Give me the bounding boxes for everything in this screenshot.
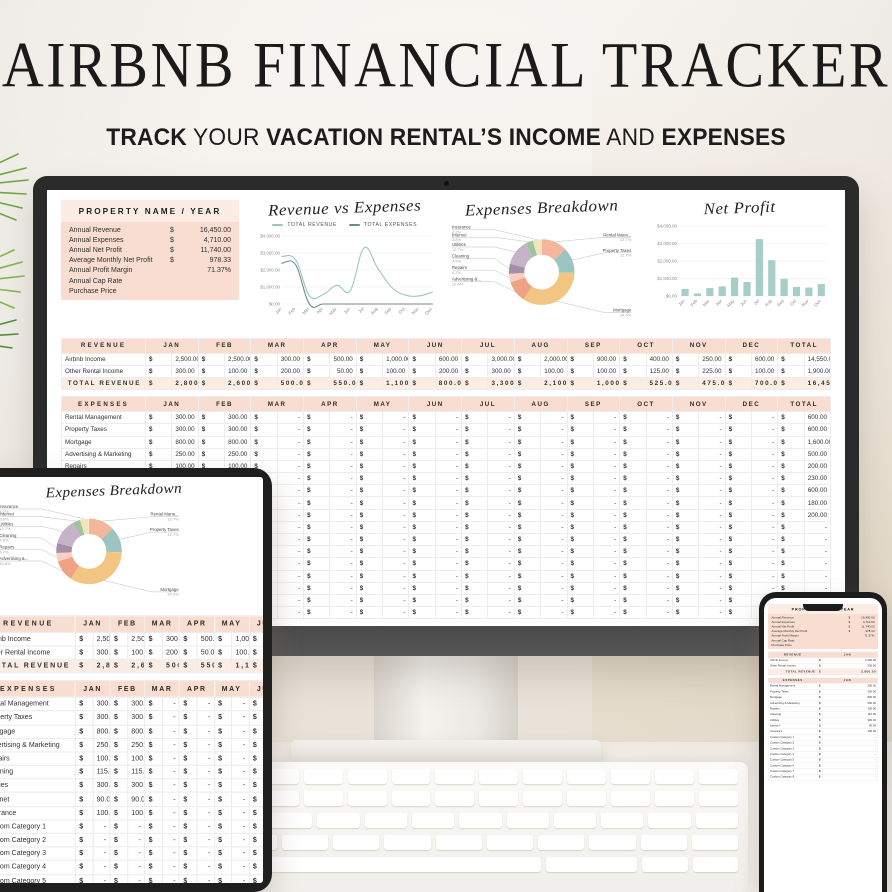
table-row[interactable]: Rental Management$300.00$300.00$-$-$-$-$… bbox=[0, 697, 263, 711]
cell-value[interactable]: - bbox=[162, 874, 179, 883]
cell-value[interactable]: - bbox=[646, 607, 672, 619]
cell-value[interactable]: - bbox=[699, 546, 725, 558]
table-row[interactable]: Mortgage$800.00$800.00$-$-$-$-$-$-$-$-$-… bbox=[0, 725, 263, 739]
cell-value[interactable]: - bbox=[699, 485, 725, 497]
cell-value[interactable]: - bbox=[541, 558, 567, 570]
cell-value[interactable]: - bbox=[488, 582, 514, 594]
cell-value[interactable]: - bbox=[383, 473, 409, 485]
cell-value[interactable]: - bbox=[277, 497, 303, 509]
cell-value[interactable]: - bbox=[541, 594, 567, 606]
cell-value[interactable]: - bbox=[162, 847, 179, 861]
cell-value[interactable]: - bbox=[541, 607, 567, 619]
table-row[interactable]: Mortgage$800.00$800.00$-$-$-$-$-$-$-$-$-… bbox=[62, 436, 831, 448]
cell-value[interactable]: - bbox=[646, 546, 672, 558]
cell-value[interactable]: - bbox=[541, 546, 567, 558]
cell-value[interactable]: - bbox=[330, 424, 356, 436]
cell-value[interactable]: - bbox=[541, 534, 567, 546]
cell-value[interactable]: - bbox=[383, 546, 409, 558]
cell-value[interactable]: - bbox=[232, 725, 249, 739]
cell-value[interactable]: - bbox=[646, 509, 672, 521]
cell-value[interactable]: - bbox=[127, 874, 144, 883]
cell-value[interactable]: - bbox=[751, 521, 777, 533]
cell-value[interactable]: - bbox=[435, 594, 461, 606]
cell-value[interactable]: - bbox=[699, 594, 725, 606]
cell-value[interactable]: - bbox=[435, 570, 461, 582]
cell-value[interactable]: - bbox=[232, 806, 249, 820]
cell-value[interactable]: - bbox=[541, 412, 567, 424]
cell-value[interactable]: - bbox=[435, 473, 461, 485]
cell-value[interactable]: 300.00 bbox=[93, 779, 110, 793]
cell-value[interactable]: 500.00 bbox=[197, 632, 214, 646]
cell-value[interactable]: 300.00 bbox=[488, 365, 514, 377]
cell-value[interactable]: 2,500.00 bbox=[93, 632, 110, 646]
cell-value[interactable]: - bbox=[488, 607, 514, 619]
table-row[interactable]: Airbnb Income$2,500.00$2,500.00$300.00$5… bbox=[62, 353, 831, 365]
cell-value[interactable]: - bbox=[330, 497, 356, 509]
cell-value[interactable]: 100.00 bbox=[127, 806, 144, 820]
cell-value[interactable]: - bbox=[488, 594, 514, 606]
cell-value[interactable]: 50.00 bbox=[330, 365, 356, 377]
table-row[interactable]: Cleaning$115.00$115.00$-$-$-$-$-$-$-$-$-… bbox=[0, 765, 263, 779]
cell-value[interactable]: - bbox=[383, 509, 409, 521]
cell-value[interactable]: - bbox=[488, 546, 514, 558]
cell-value[interactable]: - bbox=[232, 793, 249, 807]
cell-value[interactable]: - bbox=[383, 485, 409, 497]
cell-value[interactable]: - bbox=[593, 521, 619, 533]
cell-value[interactable]: - bbox=[277, 546, 303, 558]
cell-value[interactable]: - bbox=[488, 509, 514, 521]
cell-value[interactable]: - bbox=[330, 582, 356, 594]
cell-value[interactable]: - bbox=[541, 485, 567, 497]
cell-value[interactable]: - bbox=[435, 424, 461, 436]
cell-value[interactable]: - bbox=[162, 711, 179, 725]
cell-value[interactable]: 600.00 bbox=[435, 353, 461, 365]
cell-value[interactable]: - bbox=[593, 546, 619, 558]
cell-value[interactable]: - bbox=[93, 833, 110, 847]
cell-value[interactable]: - bbox=[383, 497, 409, 509]
cell-value[interactable]: - bbox=[435, 558, 461, 570]
cell-value[interactable]: - bbox=[699, 534, 725, 546]
table-row[interactable]: Airbnb Income$2,500.00$2,500.00$300.00$5… bbox=[0, 632, 263, 646]
cell-value[interactable]: - bbox=[488, 485, 514, 497]
cell-value[interactable]: - bbox=[383, 570, 409, 582]
cell-value[interactable]: - bbox=[197, 752, 214, 766]
cell-value[interactable]: - bbox=[646, 436, 672, 448]
cell-value[interactable]: 1,000.00 bbox=[232, 632, 249, 646]
cell-value[interactable]: 300.00 bbox=[93, 646, 110, 660]
cell-value[interactable]: - bbox=[751, 485, 777, 497]
cell-value[interactable]: - bbox=[277, 534, 303, 546]
cell-value[interactable]: 100.00 bbox=[127, 752, 144, 766]
cell-value[interactable]: - bbox=[162, 833, 179, 847]
cell-value[interactable]: - bbox=[751, 509, 777, 521]
cell-value[interactable]: - bbox=[751, 546, 777, 558]
cell-value[interactable]: 90.00 bbox=[127, 793, 144, 807]
cell-value[interactable]: 225.00 bbox=[699, 365, 725, 377]
cell-value[interactable]: - bbox=[162, 725, 179, 739]
cell-value[interactable]: - bbox=[488, 534, 514, 546]
cell-value[interactable]: - bbox=[277, 509, 303, 521]
cell-value[interactable]: 900.00 bbox=[593, 353, 619, 365]
cell-value[interactable]: 100.00 bbox=[232, 646, 249, 660]
cell-value[interactable]: 250.00 bbox=[699, 353, 725, 365]
cell-value[interactable]: - bbox=[541, 521, 567, 533]
table-row[interactable]: Custom Category 4$-$-$-$-$-$-$-$-$-$-$-$… bbox=[0, 861, 263, 875]
cell-value[interactable]: - bbox=[593, 497, 619, 509]
cell-value[interactable]: - bbox=[162, 738, 179, 752]
cell-value[interactable]: - bbox=[330, 473, 356, 485]
cell-value[interactable]: - bbox=[383, 607, 409, 619]
cell-value[interactable]: 300.00 bbox=[162, 632, 179, 646]
cell-value[interactable]: 200.00 bbox=[277, 365, 303, 377]
cell-value[interactable]: - bbox=[197, 833, 214, 847]
cell-value[interactable]: - bbox=[541, 436, 567, 448]
cell-value[interactable]: - bbox=[751, 412, 777, 424]
cell-value[interactable]: - bbox=[646, 412, 672, 424]
cell-value[interactable]: - bbox=[593, 534, 619, 546]
cell-value[interactable]: 100.00 bbox=[93, 752, 110, 766]
table-row[interactable]: Custom Category 5$-$-$-$-$-$-$-$-$-$-$-$… bbox=[0, 874, 263, 883]
cell-value[interactable]: - bbox=[383, 534, 409, 546]
cell-value[interactable]: 300.00 bbox=[172, 424, 198, 436]
cell-value[interactable]: - bbox=[488, 497, 514, 509]
cell-value[interactable]: - bbox=[277, 412, 303, 424]
cell-value[interactable]: - bbox=[646, 448, 672, 460]
cell-value[interactable]: - bbox=[488, 448, 514, 460]
cell-value[interactable]: - bbox=[383, 448, 409, 460]
cell-value[interactable]: - bbox=[232, 711, 249, 725]
cell-value[interactable]: 300.00 bbox=[127, 711, 144, 725]
cell-value[interactable]: - bbox=[593, 460, 619, 472]
cell-value[interactable]: - bbox=[162, 793, 179, 807]
cell-value[interactable]: 90.00 bbox=[93, 793, 110, 807]
cell-value[interactable]: 1,000.00 bbox=[383, 353, 409, 365]
cell-value[interactable]: - bbox=[197, 725, 214, 739]
cell-value[interactable]: 600.00 bbox=[751, 353, 777, 365]
cell-value[interactable]: 800.00 bbox=[127, 725, 144, 739]
cell-value[interactable]: - bbox=[383, 594, 409, 606]
cell-value[interactable]: - bbox=[162, 861, 179, 875]
cell-value[interactable]: - bbox=[646, 558, 672, 570]
cell-value[interactable]: - bbox=[197, 697, 214, 711]
cell-value[interactable]: - bbox=[593, 436, 619, 448]
cell-value[interactable]: - bbox=[162, 697, 179, 711]
cell-value[interactable]: - bbox=[541, 448, 567, 460]
cell-value[interactable]: - bbox=[751, 534, 777, 546]
cell-value[interactable]: - bbox=[435, 412, 461, 424]
cell-value[interactable]: - bbox=[162, 752, 179, 766]
cell-value[interactable]: 2,500.00 bbox=[225, 353, 251, 365]
cell-value[interactable]: - bbox=[646, 582, 672, 594]
cell-value[interactable]: - bbox=[646, 497, 672, 509]
table-row[interactable]: Repairs$100.00$100.00$-$-$-$-$-$-$-$-$-$… bbox=[0, 752, 263, 766]
cell-value[interactable]: - bbox=[435, 607, 461, 619]
tablet-revenue-table[interactable]: REVENUEJANFEBMARAPRMAYJUNJULAUGSEPOCTNOV… bbox=[0, 615, 263, 673]
cell-value[interactable]: - bbox=[383, 412, 409, 424]
cell-value[interactable]: - bbox=[93, 847, 110, 861]
cell-value[interactable]: 300.00 bbox=[127, 697, 144, 711]
cell-value[interactable]: - bbox=[330, 460, 356, 472]
cell-value[interactable]: - bbox=[593, 607, 619, 619]
cell-value[interactable]: - bbox=[435, 521, 461, 533]
cell-value[interactable]: 125.00 bbox=[646, 365, 672, 377]
cell-value[interactable]: - bbox=[330, 534, 356, 546]
cell-value[interactable]: - bbox=[232, 861, 249, 875]
cell-value[interactable]: - bbox=[488, 570, 514, 582]
table-row[interactable]: Internet$90.00$90.00$-$-$-$-$-$-$-$-$-$-… bbox=[0, 793, 263, 807]
cell-value[interactable]: - bbox=[593, 448, 619, 460]
cell-value[interactable]: - bbox=[751, 558, 777, 570]
cell-value[interactable]: - bbox=[232, 820, 249, 834]
cell-value[interactable]: - bbox=[330, 436, 356, 448]
cell-value[interactable]: - bbox=[435, 546, 461, 558]
cell-value[interactable]: - bbox=[127, 820, 144, 834]
cell-value[interactable]: 100.00 bbox=[383, 365, 409, 377]
cell-value[interactable]: 115.00 bbox=[127, 765, 144, 779]
cell-value[interactable]: 500.00 bbox=[330, 353, 356, 365]
table-row[interactable]: Property Taxes$300.00$300.00$-$-$-$-$-$-… bbox=[62, 424, 831, 436]
cell-value[interactable]: 300.00 bbox=[93, 697, 110, 711]
cell-value[interactable]: - bbox=[435, 460, 461, 472]
cell-value[interactable]: 50.00 bbox=[197, 646, 214, 660]
table-row[interactable]: Other Rental Income$300.00$100.00$200.00… bbox=[0, 646, 263, 660]
cell-value[interactable]: 250.00 bbox=[127, 738, 144, 752]
cell-value[interactable]: - bbox=[435, 485, 461, 497]
cell-value[interactable]: - bbox=[197, 765, 214, 779]
cell-value[interactable]: 300.00 bbox=[127, 779, 144, 793]
cell-value[interactable]: - bbox=[488, 412, 514, 424]
cell-value[interactable]: - bbox=[488, 460, 514, 472]
table-row[interactable]: Advertising & Marketing$250.00$250.00$-$… bbox=[0, 738, 263, 752]
cell-value[interactable]: 3,000.00 bbox=[488, 353, 514, 365]
cell-value[interactable]: - bbox=[277, 424, 303, 436]
cell-value[interactable]: - bbox=[197, 793, 214, 807]
cell-value[interactable]: 100.00 bbox=[541, 365, 567, 377]
cell-value[interactable]: - bbox=[699, 607, 725, 619]
cell-value[interactable]: - bbox=[435, 448, 461, 460]
cell-value[interactable]: - bbox=[232, 874, 249, 883]
cell-value[interactable]: - bbox=[646, 424, 672, 436]
cell-value[interactable]: - bbox=[699, 473, 725, 485]
cell-value[interactable]: - bbox=[162, 779, 179, 793]
cell-value[interactable]: - bbox=[232, 765, 249, 779]
cell-value[interactable]: - bbox=[435, 436, 461, 448]
cell-value[interactable]: - bbox=[127, 861, 144, 875]
cell-value[interactable]: - bbox=[699, 460, 725, 472]
table-row[interactable]: Custom Category 1$-$-$-$-$-$-$-$-$-$-$-$… bbox=[0, 820, 263, 834]
cell-value[interactable]: - bbox=[162, 765, 179, 779]
cell-value[interactable]: 250.00 bbox=[93, 738, 110, 752]
cell-value[interactable]: - bbox=[330, 412, 356, 424]
table-row[interactable]: Custom Category 2$-$-$-$-$-$-$-$-$-$-$-$… bbox=[0, 833, 263, 847]
cell-value[interactable]: - bbox=[330, 521, 356, 533]
cell-value[interactable]: 800.00 bbox=[93, 725, 110, 739]
cell-value[interactable]: - bbox=[277, 582, 303, 594]
cell-value[interactable]: - bbox=[127, 847, 144, 861]
cell-value[interactable]: 300.00 bbox=[93, 711, 110, 725]
cell-value[interactable]: - bbox=[197, 874, 214, 883]
table-row[interactable]: Advertising & Marketing$250.00$250.00$-$… bbox=[62, 448, 831, 460]
cell-value[interactable]: - bbox=[593, 509, 619, 521]
cell-value[interactable]: - bbox=[232, 779, 249, 793]
cell-value[interactable]: - bbox=[593, 424, 619, 436]
cell-value[interactable]: - bbox=[541, 570, 567, 582]
cell-value[interactable]: 800.00 bbox=[172, 436, 198, 448]
cell-value[interactable]: - bbox=[277, 558, 303, 570]
cell-value[interactable]: - bbox=[751, 473, 777, 485]
cell-value[interactable]: - bbox=[699, 436, 725, 448]
cell-value[interactable]: - bbox=[646, 521, 672, 533]
cell-value[interactable]: - bbox=[232, 847, 249, 861]
cell-value[interactable]: 2,500.00 bbox=[172, 353, 198, 365]
cell-value[interactable]: 100.00 bbox=[751, 365, 777, 377]
cell-value[interactable]: - bbox=[751, 436, 777, 448]
phone-revenue-table[interactable]: REVENUEJANAirbnb Income$2,500.00Other Re… bbox=[768, 652, 878, 675]
cell-value[interactable]: - bbox=[699, 448, 725, 460]
cell-value[interactable]: 100.00 bbox=[127, 646, 144, 660]
cell-value[interactable]: - bbox=[330, 594, 356, 606]
cell-value[interactable]: - bbox=[330, 558, 356, 570]
cell-value[interactable]: - bbox=[435, 534, 461, 546]
cell-value[interactable]: - bbox=[277, 473, 303, 485]
cell-value[interactable]: - bbox=[383, 582, 409, 594]
cell-value[interactable]: 2,000.00 bbox=[541, 353, 567, 365]
cell-value[interactable]: - bbox=[751, 448, 777, 460]
cell-value[interactable]: - bbox=[330, 607, 356, 619]
cell-value[interactable]: - bbox=[383, 521, 409, 533]
cell-value[interactable]: - bbox=[541, 497, 567, 509]
cell-value[interactable]: 2,500.00 bbox=[127, 632, 144, 646]
cell-value[interactable]: - bbox=[593, 570, 619, 582]
cell-value[interactable]: - bbox=[383, 460, 409, 472]
cell-value[interactable]: - bbox=[127, 833, 144, 847]
cell-value[interactable]: - bbox=[277, 570, 303, 582]
cell-value[interactable]: 300.00 bbox=[225, 412, 251, 424]
cell-value[interactable]: - bbox=[232, 752, 249, 766]
cell-value[interactable]: 200.00 bbox=[435, 365, 461, 377]
cell-value[interactable]: - bbox=[751, 460, 777, 472]
cell-value[interactable]: - bbox=[699, 412, 725, 424]
cell-value[interactable]: 250.00 bbox=[172, 448, 198, 460]
cell-value[interactable]: - bbox=[699, 558, 725, 570]
cell-value[interactable]: - bbox=[197, 779, 214, 793]
cell-value[interactable]: - bbox=[699, 521, 725, 533]
cell-value[interactable]: - bbox=[751, 570, 777, 582]
cell-value[interactable]: - bbox=[277, 521, 303, 533]
cell-value[interactable]: - bbox=[488, 424, 514, 436]
cell-value[interactable]: - bbox=[699, 497, 725, 509]
cell-value[interactable]: - bbox=[751, 497, 777, 509]
cell-value[interactable]: - bbox=[488, 436, 514, 448]
cell-value[interactable]: - bbox=[822, 774, 878, 780]
cell-value[interactable]: - bbox=[330, 485, 356, 497]
cell-value[interactable]: - bbox=[541, 582, 567, 594]
cell-value[interactable]: - bbox=[593, 412, 619, 424]
cell-value[interactable]: - bbox=[383, 558, 409, 570]
cell-value[interactable]: - bbox=[162, 820, 179, 834]
cell-value[interactable]: 300.00 bbox=[172, 412, 198, 424]
cell-value[interactable]: - bbox=[435, 509, 461, 521]
cell-value[interactable]: - bbox=[646, 473, 672, 485]
cell-value[interactable]: - bbox=[383, 424, 409, 436]
table-row[interactable]: Utilities$300.00$300.00$-$-$-$-$-$-$-$-$… bbox=[0, 779, 263, 793]
cell-value[interactable]: - bbox=[646, 485, 672, 497]
cell-value[interactable]: 115.00 bbox=[93, 765, 110, 779]
phone-expenses-table[interactable]: EXPENSESJANRental Management$300.00Prope… bbox=[768, 677, 878, 780]
cell-value[interactable]: - bbox=[593, 485, 619, 497]
table-row[interactable]: Rental Management$300.00$300.00$-$-$-$-$… bbox=[62, 412, 831, 424]
cell-value[interactable]: - bbox=[541, 460, 567, 472]
cell-value[interactable]: 100.00 bbox=[225, 365, 251, 377]
phone-table-row[interactable]: Custom Category 8$- bbox=[768, 774, 878, 780]
cell-value[interactable]: - bbox=[646, 534, 672, 546]
cell-value[interactable]: - bbox=[197, 806, 214, 820]
cell-value[interactable]: - bbox=[330, 546, 356, 558]
cell-value[interactable]: - bbox=[277, 607, 303, 619]
cell-value[interactable]: - bbox=[93, 820, 110, 834]
revenue-table[interactable]: REVENUEJANFEBMARAPRMAYJUNJULAUGSEPOCTNOV… bbox=[61, 338, 831, 390]
cell-value[interactable]: - bbox=[488, 473, 514, 485]
cell-value[interactable]: 300.00 bbox=[172, 365, 198, 377]
cell-value[interactable]: - bbox=[232, 833, 249, 847]
cell-value[interactable]: - bbox=[541, 473, 567, 485]
cell-value[interactable]: 250.00 bbox=[225, 448, 251, 460]
cell-value[interactable]: - bbox=[541, 424, 567, 436]
cell-value[interactable]: 300.00 bbox=[277, 353, 303, 365]
table-row[interactable]: Other Rental Income$300.00$100.00$200.00… bbox=[62, 365, 831, 377]
cell-value[interactable]: - bbox=[93, 861, 110, 875]
cell-value[interactable]: - bbox=[330, 570, 356, 582]
cell-value[interactable]: - bbox=[197, 820, 214, 834]
cell-value[interactable]: - bbox=[197, 861, 214, 875]
cell-value[interactable]: - bbox=[435, 582, 461, 594]
cell-value[interactable]: - bbox=[277, 594, 303, 606]
cell-value[interactable]: - bbox=[646, 460, 672, 472]
cell-value[interactable]: - bbox=[93, 874, 110, 883]
cell-value[interactable]: - bbox=[197, 711, 214, 725]
cell-value[interactable]: 200.00 bbox=[162, 646, 179, 660]
cell-value[interactable]: - bbox=[751, 424, 777, 436]
cell-value[interactable]: 100.00 bbox=[93, 806, 110, 820]
table-row[interactable]: Property Taxes$300.00$300.00$-$-$-$-$-$-… bbox=[0, 711, 263, 725]
cell-value[interactable]: - bbox=[541, 509, 567, 521]
cell-value[interactable]: - bbox=[277, 485, 303, 497]
cell-value[interactable]: 400.00 bbox=[646, 353, 672, 365]
cell-value[interactable]: 300.00 bbox=[225, 424, 251, 436]
tablet-expenses-table[interactable]: EXPENSESJANFEBMARAPRMAYJUNJULAUGSEPOCTNO… bbox=[0, 680, 263, 883]
table-row[interactable]: Custom Category 3$-$-$-$-$-$-$-$-$-$-$-$… bbox=[0, 847, 263, 861]
cell-value[interactable]: - bbox=[197, 738, 214, 752]
cell-value[interactable]: - bbox=[383, 436, 409, 448]
cell-value[interactable]: - bbox=[330, 448, 356, 460]
cell-value[interactable]: - bbox=[162, 806, 179, 820]
cell-value[interactable]: - bbox=[277, 436, 303, 448]
cell-value[interactable]: - bbox=[646, 594, 672, 606]
cell-value[interactable]: - bbox=[593, 582, 619, 594]
cell-value[interactable]: - bbox=[232, 697, 249, 711]
cell-value[interactable]: - bbox=[593, 473, 619, 485]
cell-value[interactable]: - bbox=[593, 594, 619, 606]
cell-value[interactable]: - bbox=[699, 570, 725, 582]
cell-value[interactable]: - bbox=[277, 460, 303, 472]
cell-value[interactable]: - bbox=[277, 448, 303, 460]
cell-value[interactable]: - bbox=[488, 521, 514, 533]
cell-value[interactable]: - bbox=[699, 509, 725, 521]
cell-value[interactable]: - bbox=[435, 497, 461, 509]
cell-value[interactable]: - bbox=[646, 570, 672, 582]
cell-value[interactable]: 800.00 bbox=[225, 436, 251, 448]
cell-value[interactable]: - bbox=[330, 509, 356, 521]
